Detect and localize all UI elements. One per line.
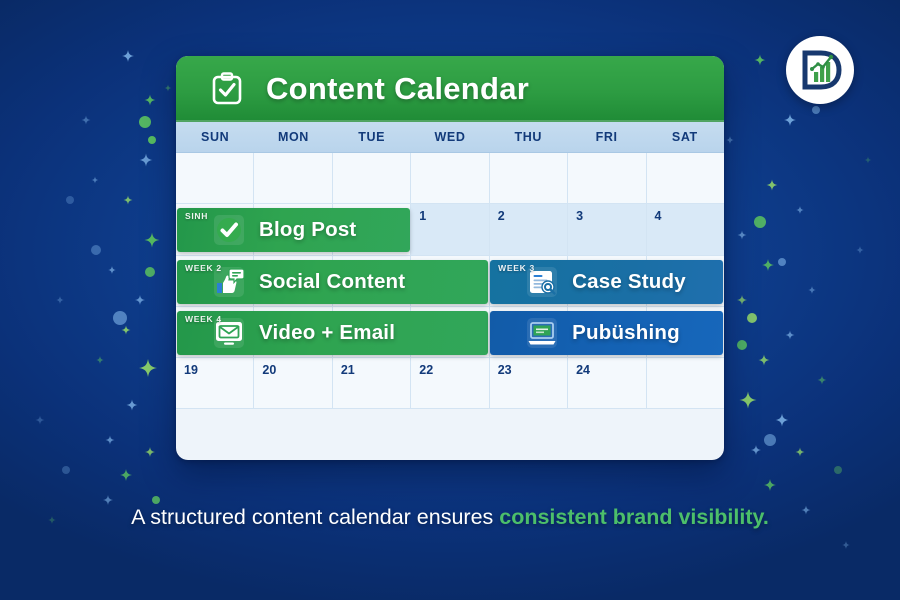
day-number: 2 xyxy=(498,209,505,223)
weekday-mon: MON xyxy=(254,122,332,152)
day-cell-22[interactable]: 22 xyxy=(411,358,489,409)
sparkle-icon xyxy=(759,355,770,366)
sparkle-icon xyxy=(808,286,816,294)
sparkle-dot xyxy=(91,245,101,255)
sparkle-icon xyxy=(82,116,91,125)
day-number: 1 xyxy=(419,209,426,223)
weekday-thu: THU xyxy=(489,122,567,152)
event-week-tag: WEEK 4 xyxy=(185,314,222,324)
sparkle-dot xyxy=(145,267,155,277)
day-cell-21[interactable]: 21 xyxy=(333,358,411,409)
week-row: 192021222324 xyxy=(176,358,724,409)
calendar-card: Content Calendar SUNMONTUEWEDTHUFRISAT 1… xyxy=(176,56,724,460)
sparkle-icon xyxy=(96,356,104,364)
day-cell-empty[interactable] xyxy=(254,153,332,204)
sparkle-icon xyxy=(165,85,172,92)
sparkle-icon xyxy=(796,448,805,457)
day-number: 23 xyxy=(498,363,512,377)
weekday-header-row: SUNMONTUEWEDTHUFRISAT xyxy=(176,122,724,153)
event-label: Case Study xyxy=(572,270,686,294)
day-cell-2[interactable]: 2 xyxy=(490,204,568,255)
infographic-canvas: Content Calendar SUNMONTUEWEDTHUFRISAT 1… xyxy=(0,0,900,600)
sparkle-dot xyxy=(148,136,156,144)
sparkle-icon xyxy=(767,180,778,191)
check-circle-icon-wrapper xyxy=(213,214,245,246)
day-number: 3 xyxy=(576,209,583,223)
week-row xyxy=(176,153,724,204)
day-cell-empty[interactable] xyxy=(647,358,724,409)
sparkle-icon xyxy=(106,436,115,445)
sparkle-icon xyxy=(145,447,155,457)
day-cell-empty[interactable] xyxy=(568,153,646,204)
caption-accent: consistent brand visibility. xyxy=(499,505,769,529)
sparkle-icon xyxy=(124,196,133,205)
sparkle-dot xyxy=(812,106,820,114)
weekday-wed: WED xyxy=(411,122,489,152)
calendar-header: Content Calendar xyxy=(176,56,724,122)
brand-logo xyxy=(786,36,854,104)
sparkle-dot xyxy=(139,116,151,128)
sparkle-icon xyxy=(108,266,116,274)
sparkle-icon xyxy=(145,95,156,106)
sparkle-dot xyxy=(747,313,757,323)
page-title: Content Calendar xyxy=(266,71,529,107)
event-label: Pubüshing xyxy=(572,321,680,345)
sparkle-icon xyxy=(740,392,757,409)
event-week-tag: SINH xyxy=(185,211,208,221)
day-number: 24 xyxy=(576,363,590,377)
sparkle-dot xyxy=(764,434,776,446)
sparkle-icon xyxy=(856,246,864,254)
sparkle-dot xyxy=(737,340,747,350)
sparkle-icon xyxy=(784,114,796,126)
growth-chart-logo-icon xyxy=(795,45,845,95)
day-number: 4 xyxy=(655,209,662,223)
sparkle-icon xyxy=(36,416,45,425)
sparkle-dot xyxy=(62,466,70,474)
sparkle-icon xyxy=(737,295,747,305)
day-cell-23[interactable]: 23 xyxy=(490,358,568,409)
day-number: 20 xyxy=(262,363,276,377)
day-number: 21 xyxy=(341,363,355,377)
day-cell-empty[interactable] xyxy=(176,153,254,204)
sparkle-dot xyxy=(754,216,766,228)
sparkle-icon xyxy=(139,359,157,377)
sparkle-icon xyxy=(127,400,138,411)
day-cell-empty[interactable] xyxy=(490,153,568,204)
event-week-tag: WEEK 2 xyxy=(185,263,222,273)
laptop-icon xyxy=(526,317,558,349)
laptop-icon-wrapper xyxy=(526,317,558,349)
event-label: Blog Post xyxy=(259,218,356,242)
day-cell-3[interactable]: 3 xyxy=(568,204,646,255)
weekday-sun: SUN xyxy=(176,122,254,152)
sparkle-icon xyxy=(140,154,153,167)
sparkle-icon xyxy=(796,206,804,214)
check-circle-icon xyxy=(213,214,245,246)
event-bar[interactable]: SINHBlog Post xyxy=(177,208,410,252)
event-bar[interactable]: Pubüshing xyxy=(490,311,723,355)
event-label: Video + Email xyxy=(259,321,395,345)
sparkle-dot xyxy=(113,311,127,325)
day-cell-empty[interactable] xyxy=(411,153,489,204)
event-bar[interactable]: WEEK 4Video + Email xyxy=(177,311,488,355)
weekday-fri: FRI xyxy=(567,122,645,152)
sparkle-dot xyxy=(778,258,786,266)
day-cell-4[interactable]: 4 xyxy=(647,204,724,255)
event-bar[interactable]: WEEK 3Case Study xyxy=(490,260,723,304)
sparkle-icon xyxy=(786,331,795,340)
event-bar[interactable]: WEEK 2Social Content xyxy=(177,260,488,304)
caption-lead: A structured content calendar ensures xyxy=(131,505,499,529)
sparkle-icon xyxy=(92,177,99,184)
sparkle-icon xyxy=(762,259,774,271)
day-number: 19 xyxy=(184,363,198,377)
sparkle-icon xyxy=(135,295,145,305)
day-cell-24[interactable]: 24 xyxy=(568,358,646,409)
weekday-tue: TUE xyxy=(333,122,411,152)
sparkle-icon xyxy=(751,445,761,455)
sparkle-icon xyxy=(818,376,827,385)
sparkle-icon xyxy=(726,136,734,144)
sparkle-icon xyxy=(776,414,789,427)
event-week-tag: WEEK 3 xyxy=(498,263,535,273)
sparkle-icon xyxy=(738,231,747,240)
sparkle-dot xyxy=(834,466,842,474)
day-cell-empty[interactable] xyxy=(647,153,724,204)
weekday-sat: SAT xyxy=(646,122,724,152)
sparkle-icon xyxy=(120,469,132,481)
day-cell-empty[interactable] xyxy=(333,153,411,204)
day-cell-20[interactable]: 20 xyxy=(254,358,332,409)
sparkle-icon xyxy=(122,50,134,62)
clipboard-check-icon xyxy=(210,72,244,106)
sparkle-icon xyxy=(842,541,850,549)
sparkle-icon xyxy=(865,157,872,164)
event-label: Social Content xyxy=(259,270,405,294)
calendar-grid: 123456789101112131415161718192021222324S… xyxy=(176,153,724,460)
day-cell-1[interactable]: 1 xyxy=(411,204,489,255)
sparkle-icon xyxy=(755,55,766,66)
sparkle-icon xyxy=(145,233,160,248)
day-number: 22 xyxy=(419,363,433,377)
caption: A structured content calendar ensures co… xyxy=(0,505,900,530)
sparkle-icon xyxy=(122,326,131,335)
sparkle-icon xyxy=(764,479,776,491)
sparkle-icon xyxy=(103,495,113,505)
sparkle-dot xyxy=(152,496,160,504)
sparkle-dot xyxy=(66,196,74,204)
day-cell-19[interactable]: 19 xyxy=(176,358,254,409)
sparkle-icon xyxy=(56,296,64,304)
